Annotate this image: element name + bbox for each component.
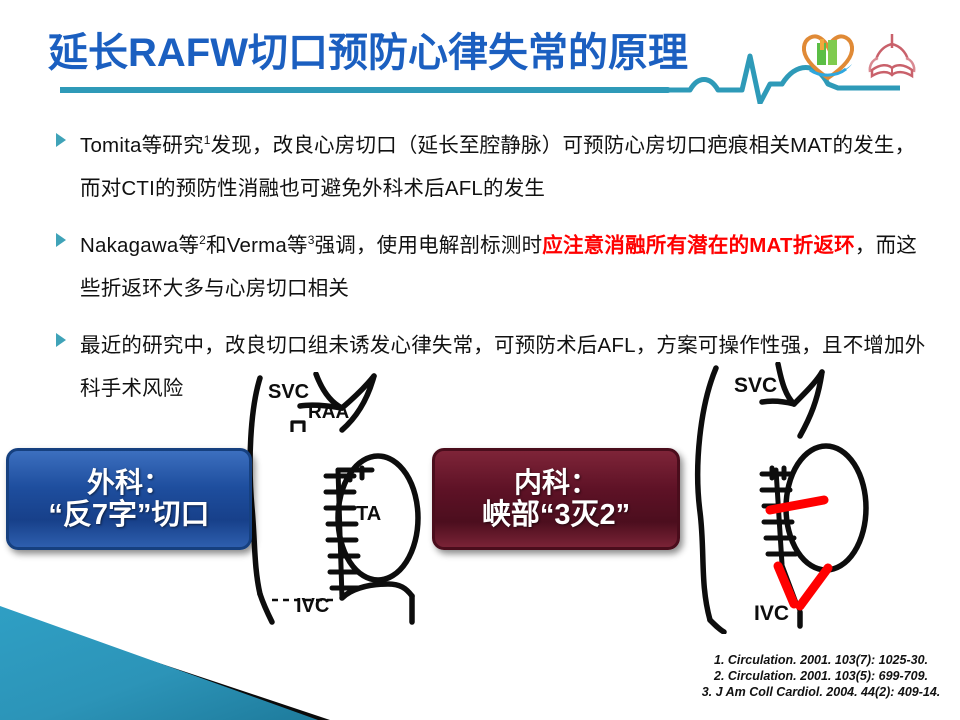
label-svc: SVC: [268, 381, 309, 403]
bullet-2-seg-0: Nakagawa等: [80, 234, 199, 257]
slide-header: 延长RAFW切口预防心律失常的原理: [0, 0, 960, 105]
bullet-2-seg-2: 和Verma等: [206, 234, 308, 257]
callout-medical: 内科： 峡部“3灭2”: [432, 448, 680, 550]
page-title: 延长RAFW切口预防心律失常的原理: [48, 30, 688, 76]
corner-decoration: [0, 596, 330, 720]
bullet-2-highlight: 应注意消融所有潜在的MAT折返环: [542, 234, 855, 257]
bullet-2-ref-3: 3: [308, 233, 315, 247]
ablation-lines-diagram: SVC IVC: [666, 362, 898, 634]
triangle-bullet-icon: [56, 233, 66, 247]
hospital-heart-logo-icon: [800, 30, 856, 82]
bullet-2-seg-4: 强调，使用电解剖标测时: [315, 234, 543, 257]
callout-surgical-line1: 外科：: [87, 468, 171, 497]
list-item: Tomita等研究1发现，改良心房切口（延长至腔静脉）可预防心房切口疤痕相关MA…: [50, 124, 930, 210]
citation-1: 1. Circulation. 2001. 103(7): 1025-30.: [690, 652, 952, 668]
list-item: Nakagawa等2和Verma等3强调，使用电解剖标测时应注意消融所有潜在的M…: [50, 224, 930, 310]
label-ta: TA: [356, 503, 381, 525]
institute-book-logo-icon: [864, 30, 920, 82]
label-ivc: IVC: [754, 602, 789, 625]
bullet-text-2: Nakagawa等2和Verma等3强调，使用电解剖标测时应注意消融所有潜在的M…: [80, 234, 917, 300]
triangle-bullet-icon: [56, 333, 66, 347]
citation-list: 1. Circulation. 2001. 103(7): 1025-30. 2…: [690, 652, 952, 700]
citation-3: 3. J Am Coll Cardiol. 2004. 44(2): 409-1…: [690, 684, 952, 700]
bullet-1-seg-0: Tomita等研究: [80, 134, 204, 157]
surgical-incision-diagram: SVC RAA TA IVC: [238, 372, 453, 630]
callout-surgical-line2: “反7字”切口: [48, 500, 209, 530]
label-svc: SVC: [734, 374, 777, 397]
callout-medical-line1: 内科：: [514, 468, 598, 497]
slide-canvas: 延长RAFW切口预防心律失常的原理: [0, 0, 960, 720]
callout-medical-line2: 峡部“3灭2”: [482, 500, 630, 530]
bullet-1-ref-1: 1: [204, 133, 211, 147]
citation-2: 2. Circulation. 2001. 103(5): 699-709.: [690, 668, 952, 684]
logo-group: [800, 30, 940, 82]
bullet-text-1: Tomita等研究1发现，改良心房切口（延长至腔静脉）可预防心房切口疤痕相关MA…: [80, 134, 915, 200]
triangle-bullet-icon: [56, 133, 66, 147]
callout-surgical: 外科： “反7字”切口: [6, 448, 252, 550]
label-raa: RAA: [308, 402, 349, 423]
